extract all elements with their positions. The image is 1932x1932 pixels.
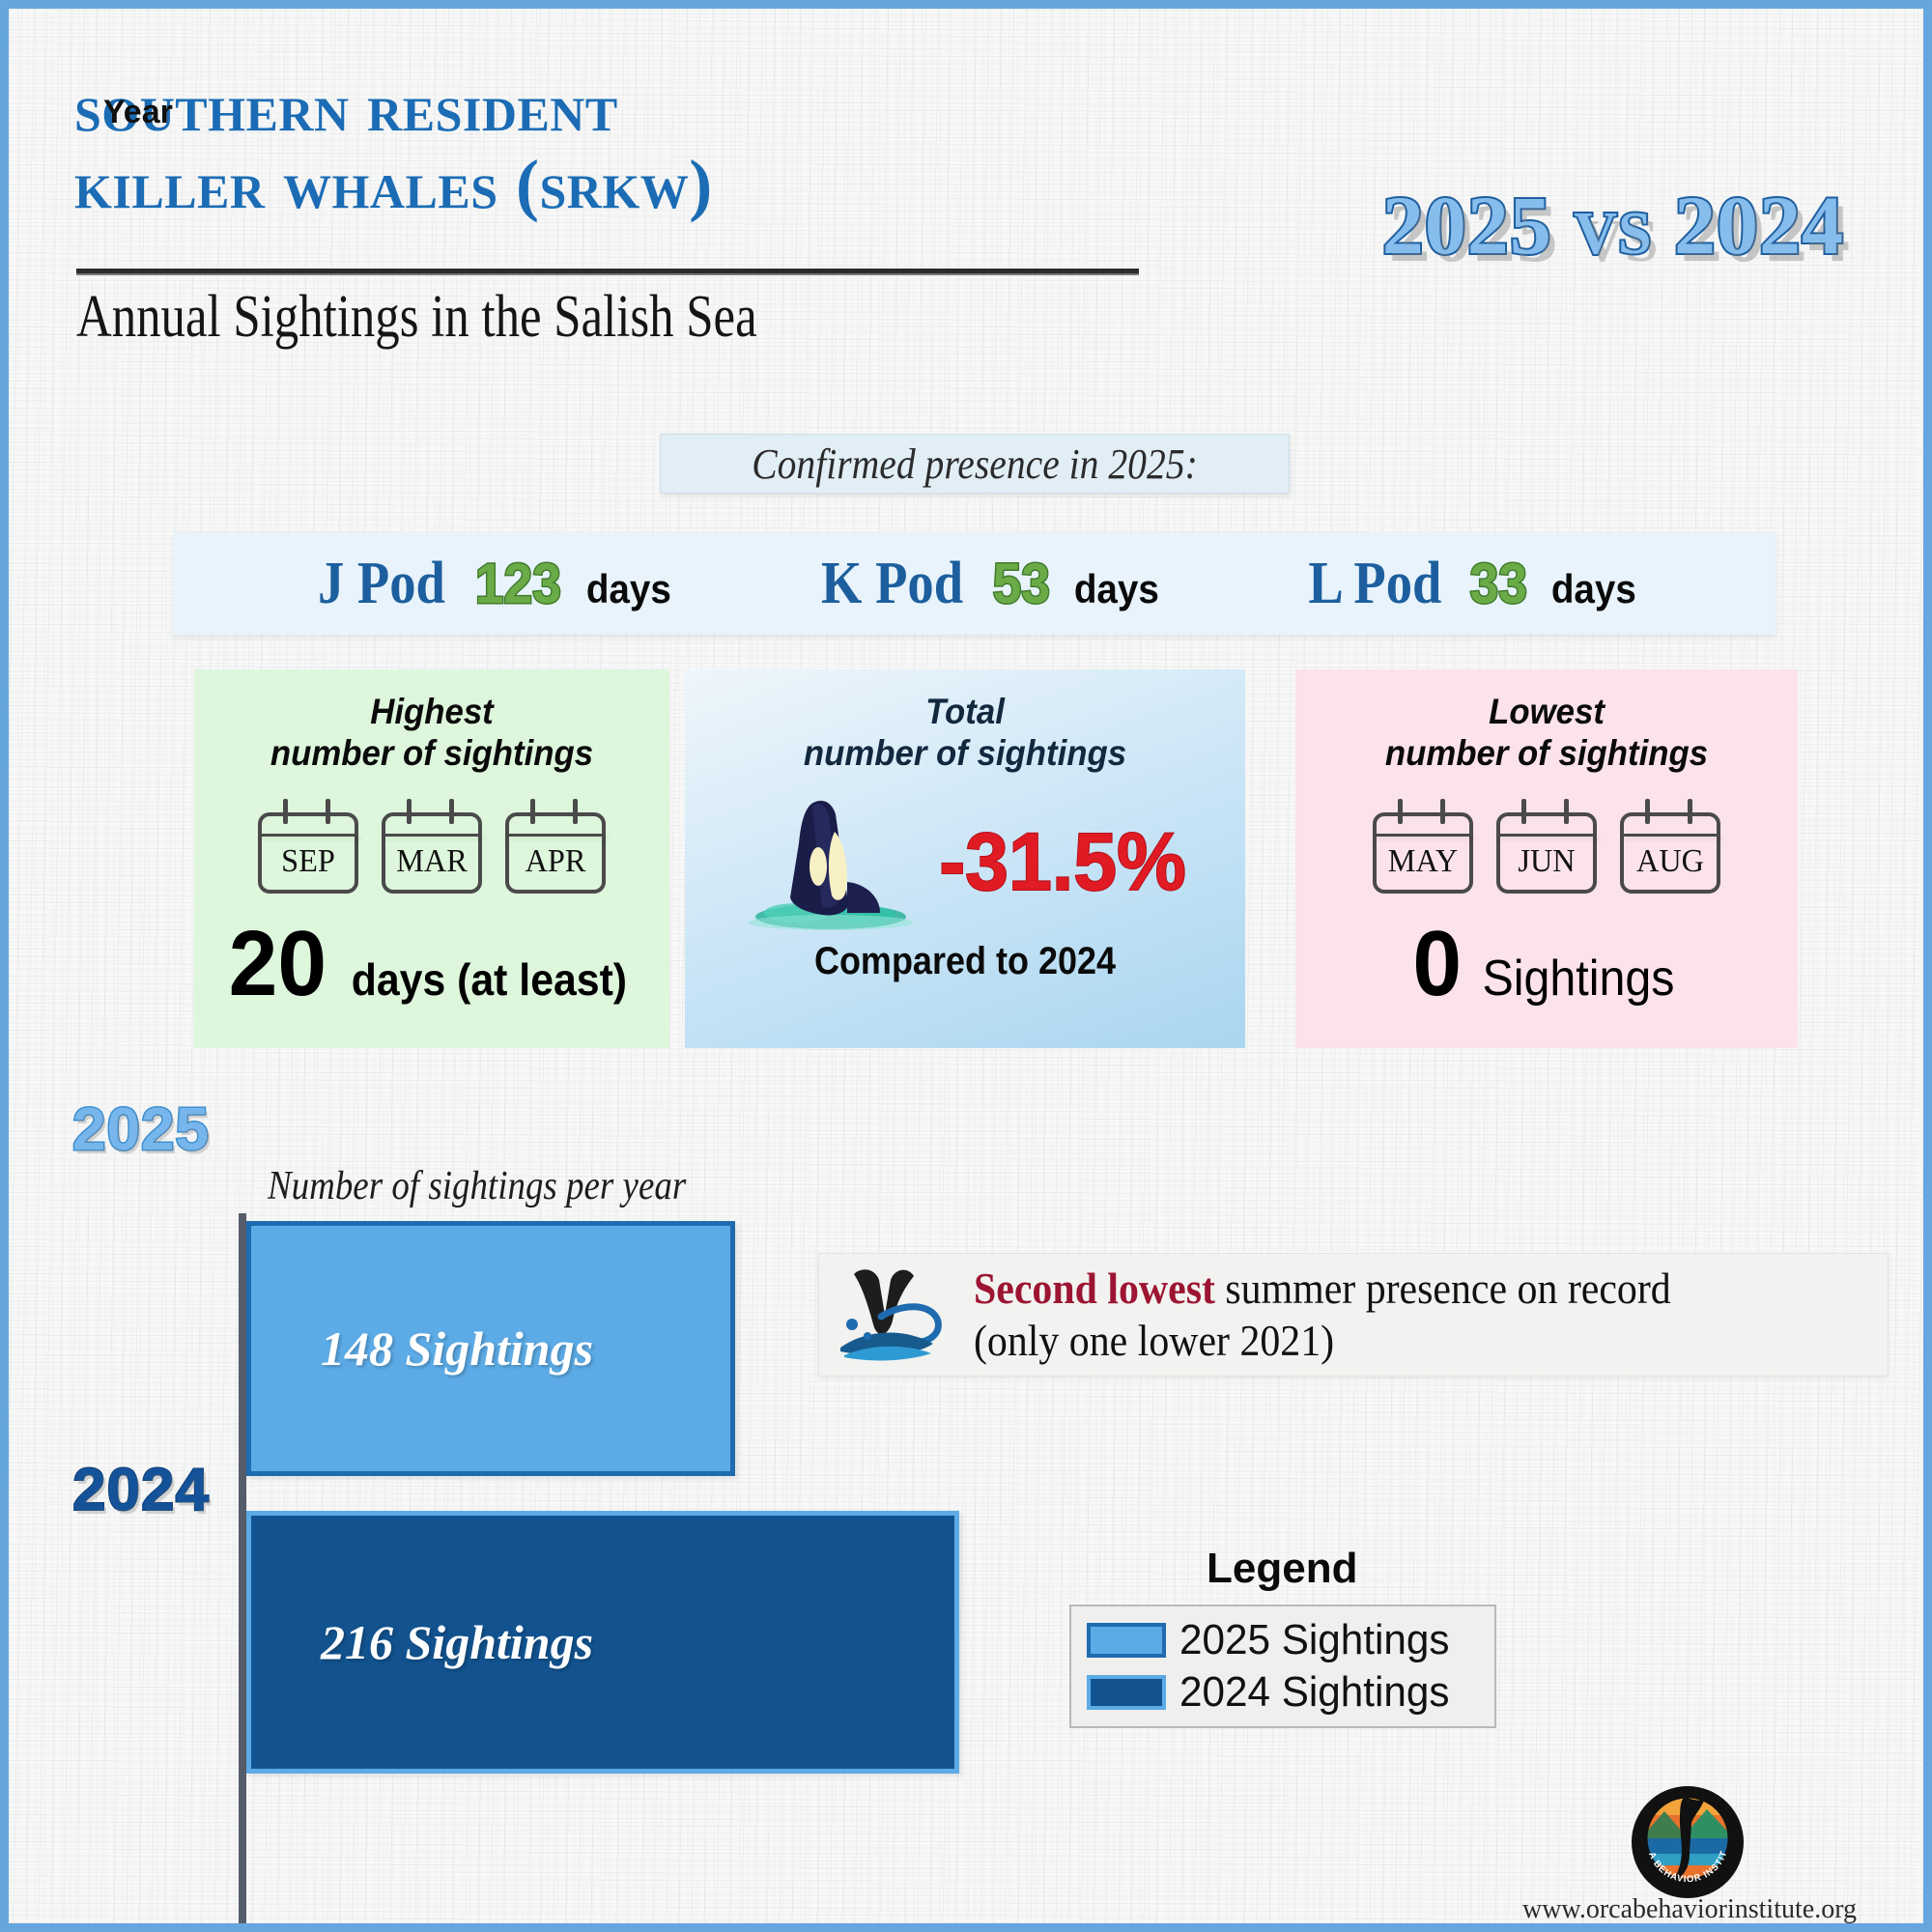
callout-line-1: Second lowest summer presence on record <box>974 1263 1671 1315</box>
legend-swatch-2024 <box>1087 1675 1166 1710</box>
callout-highlight: Second lowest <box>974 1264 1215 1313</box>
calendar-row-highest: SEP MAR APR <box>194 799 669 894</box>
legend-swatch-2025 <box>1087 1623 1166 1658</box>
bar-label-2024: 216 Sightings <box>321 1614 593 1670</box>
legend-item-2024: 2024 Sightings <box>1087 1668 1479 1717</box>
infographic-poster: Southern Resident Killer whales (SRKW) A… <box>0 0 1932 1932</box>
calendar-month-label: AUG <box>1623 843 1719 880</box>
whale-tail-icon <box>835 1264 960 1365</box>
stat-cards: Highest number of sightings SEP MAR A <box>9 669 1932 1048</box>
pod-days-l: 33 <box>1470 552 1527 616</box>
confirmed-presence-label: Confirmed presence in 2025: <box>752 440 1198 489</box>
bar-2025: 148 Sightings <box>246 1221 735 1476</box>
calendar-month-label: JUN <box>1499 843 1595 880</box>
pod-unit-l: days <box>1551 566 1636 612</box>
calendar-icon-sep: SEP <box>258 799 358 894</box>
chart-y-axis-label: Year <box>103 94 173 131</box>
pod-item-l: L Pod 33 days <box>1299 550 1640 618</box>
legend-title: Legend <box>1207 1545 1357 1593</box>
calendar-icon-mar: MAR <box>382 799 482 894</box>
vs-separator: VS <box>1574 201 1652 267</box>
calendar-icon-jun: JUN <box>1496 799 1597 894</box>
total-percent-change: -31.5% <box>939 815 1186 909</box>
calendar-icon-may: MAY <box>1373 799 1473 894</box>
highest-value: 20 <box>229 923 327 1006</box>
total-middle-row: -31.5% <box>685 789 1245 934</box>
chart-title: Number of sightings per year <box>268 1163 686 1209</box>
pod-item-k: K Pod 53 days <box>811 550 1162 618</box>
card-lowest-title: Lowest number of sightings <box>1311 691 1783 774</box>
card-highest-title: Highest number of sightings <box>209 691 655 774</box>
lowest-unit: Sightings <box>1482 950 1674 1008</box>
title-divider <box>76 269 1139 275</box>
confirmed-presence-banner: Confirmed presence in 2025: <box>660 434 1290 494</box>
lowest-value: 0 <box>1413 923 1463 1006</box>
legend-item-2025: 2025 Sightings <box>1087 1616 1479 1664</box>
calendar-month-label: APR <box>508 843 604 880</box>
calendar-icon-apr: APR <box>505 799 606 894</box>
calendar-icon-aug: AUG <box>1620 799 1720 894</box>
pod-name-j: J Pod <box>318 550 445 618</box>
highest-unit: days (at least) <box>352 953 627 1006</box>
pod-name-k: K Pod <box>821 550 963 618</box>
card-total-title: Total number of sightings <box>701 691 1228 774</box>
record-callout: Second lowest summer presence on record … <box>818 1253 1889 1377</box>
calendar-row-lowest: MAY JUN AUG <box>1295 799 1798 894</box>
lowest-value-row: 0 Sightings <box>1295 923 1798 1008</box>
calendar-month-label: MAR <box>384 843 480 880</box>
website-url: www.orcabehaviorinstitute.org <box>1477 1894 1902 1925</box>
callout-text: Second lowest summer presence on record … <box>974 1263 1671 1367</box>
page-subtitle: Annual Sightings in the Salish Sea <box>76 283 757 352</box>
vs-year-right: 2024 <box>1674 179 1844 271</box>
year-comparison-heading: 2025 VS 2024 <box>1382 177 1844 273</box>
pod-unit-k: days <box>1073 566 1158 612</box>
title-line-2: Killer whales (SRKW) <box>74 146 713 223</box>
total-comparison-label: Compared to 2024 <box>713 940 1217 983</box>
chart-category-label-2025: 2025 <box>72 1095 210 1164</box>
pod-name-l: L Pod <box>1308 550 1441 618</box>
chart-x-axis <box>239 1926 973 1932</box>
legend-label-2025: 2025 Sightings <box>1179 1616 1449 1664</box>
chart-y-axis <box>239 1213 246 1932</box>
orca-spyhop-icon <box>739 789 923 934</box>
bar-label-2025: 148 Sightings <box>321 1321 593 1377</box>
card-total-sightings: Total number of sightings <box>685 669 1245 1048</box>
calendar-month-label: MAY <box>1376 843 1471 880</box>
pod-summary-strip: J Pod 123 days K Pod 53 days L Pod 33 da… <box>173 532 1776 635</box>
orca-behavior-institute-logo: ORCA BEHAVIOR INSTITUTE <box>1630 1784 1746 1900</box>
pod-unit-j: days <box>586 566 671 612</box>
vs-year-left: 2025 <box>1382 179 1552 271</box>
page-title: Southern Resident Killer whales (SRKW) <box>74 69 713 223</box>
card-lowest-sightings: Lowest number of sightings MAY JUN AU <box>1295 669 1798 1048</box>
calendar-month-label: SEP <box>261 843 356 880</box>
pod-days-j: 123 <box>475 552 561 616</box>
callout-line-2: (only one lower 2021) <box>974 1315 1671 1367</box>
pod-item-j: J Pod 123 days <box>309 550 674 618</box>
pod-days-k: 53 <box>993 552 1050 616</box>
callout-rest: summer presence on record <box>1215 1264 1671 1313</box>
highest-value-row: 20 days (at least) <box>194 923 669 1006</box>
bar-2024: 216 Sightings <box>246 1511 959 1774</box>
chart-category-label-2024: 2024 <box>72 1456 210 1524</box>
legend-label-2024: 2024 Sightings <box>1179 1668 1449 1717</box>
chart-legend: 2025 Sightings 2024 Sightings <box>1069 1605 1496 1728</box>
card-highest-sightings: Highest number of sightings SEP MAR A <box>194 669 669 1048</box>
